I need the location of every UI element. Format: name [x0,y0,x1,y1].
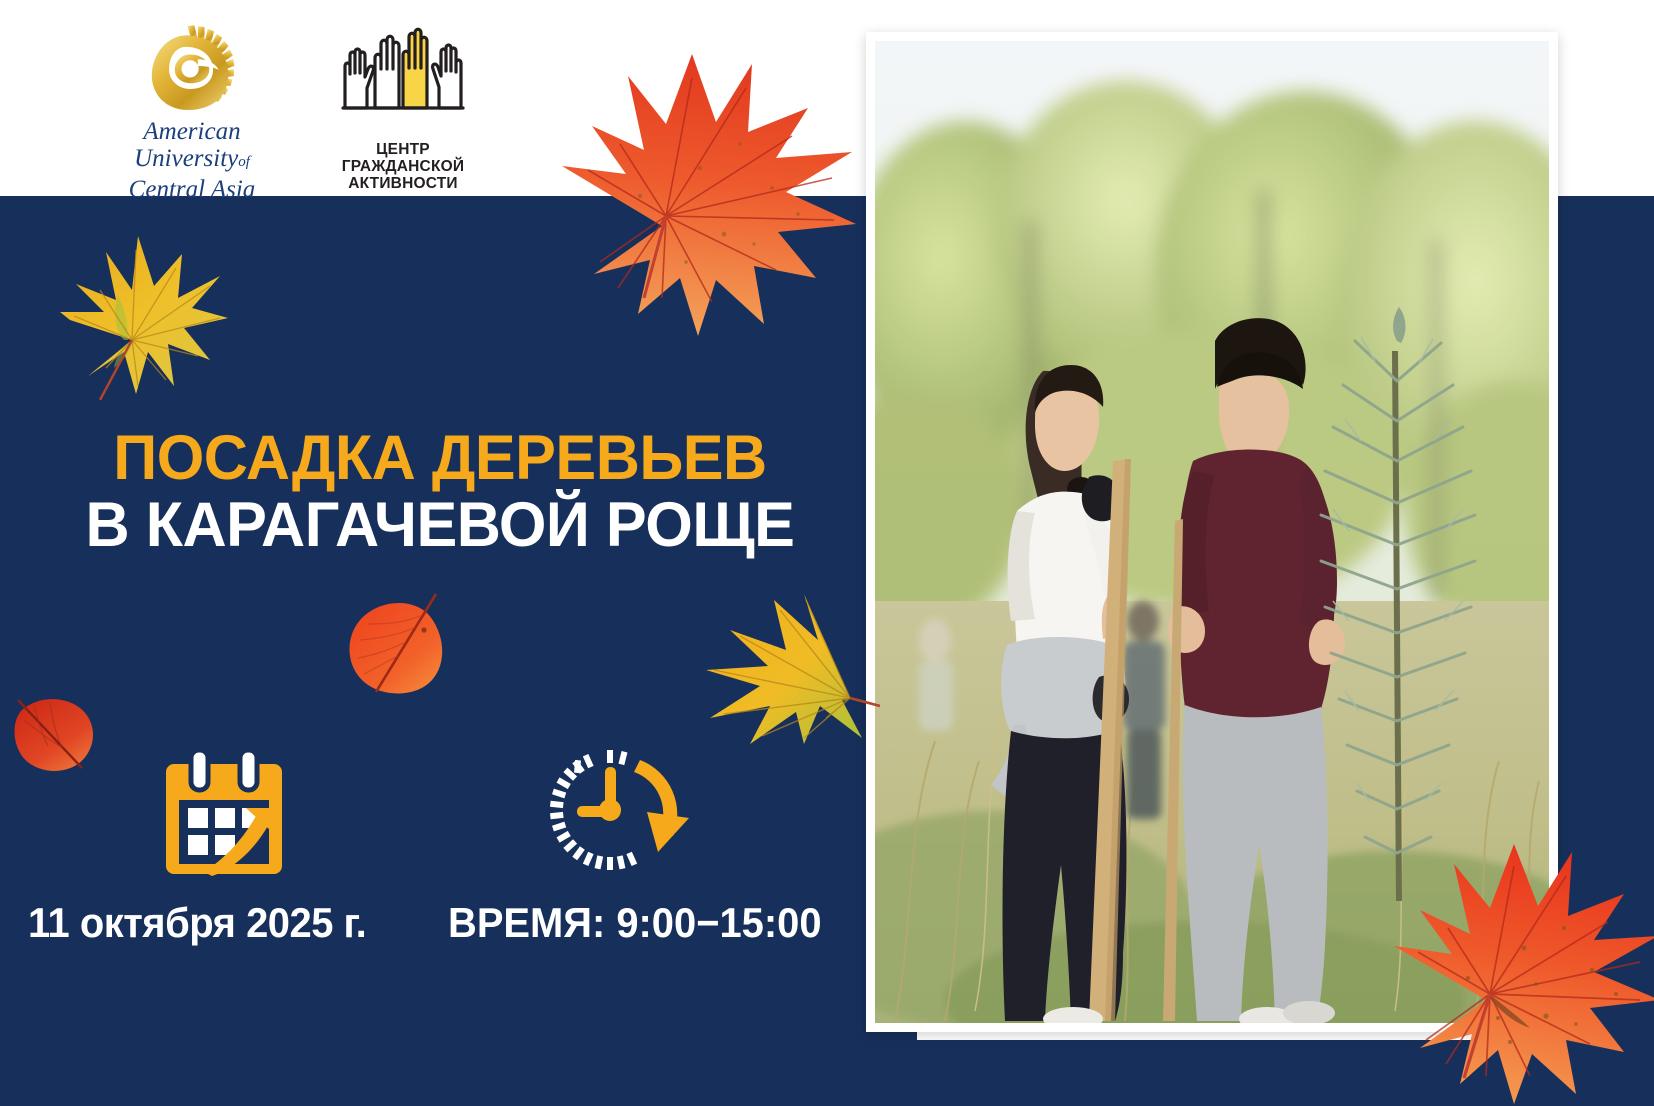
headline-line-1: ПОСАДКА ДЕРЕВЬЕВ [13,425,867,492]
clock-icon [548,740,696,880]
auca-wordmark: American Universityof Central Asia [104,118,280,203]
calendar-icon [160,748,288,876]
auca-wordmark-line1: American [104,118,280,145]
maple-leaf-red-top [540,48,870,338]
event-date: 11 октября 2025 г. [28,895,366,951]
auca-logo: American Universityof Central Asia [104,22,280,194]
headline-block: ПОСАДКА ДЕРЕВЬЕВ В КАРАГАЧЕВОЙ РОЩЕ [0,425,880,559]
leaf-red-small-left [8,690,100,780]
cca-wordmark: ЦЕНТР ГРАЖДАНСКОЙ АКТИВНОСТИ [328,141,478,192]
headline-line-2: В КАРАГАЧЕВОЙ РОЩЕ [13,492,867,559]
maple-leaf-yellow-right [700,566,880,744]
auca-wordmark-of: of [238,154,250,170]
poster-canvas: American Universityof Central Asia ЦЕНТР… [0,0,1654,1106]
raised-hands-icon [333,22,473,134]
auca-wordmark-line3: Central Asia [104,176,280,203]
cca-wordmark-line2: ГРАЖДАНСКОЙ [328,158,478,175]
oval-leaf-orange [332,580,460,700]
civic-activity-center-logo: ЦЕНТР ГРАЖДАНСКОЙ АКТИВНОСТИ [328,22,478,197]
event-details-row: 11 октября 2025 г. ВРЕМЯ: 9:00−15:00 [0,895,880,965]
maple-leaf-red-bottom-right [1378,838,1654,1106]
event-time: ВРЕМЯ: 9:00−15:00 [448,895,822,951]
cca-wordmark-line3: АКТИВНОСТИ [328,175,478,192]
maple-leaf-yellow-left [44,228,236,400]
auca-wordmark-line2: Universityof [104,145,280,176]
cca-wordmark-line1: ЦЕНТР [328,141,478,158]
eagle-sun-icon [104,22,280,110]
